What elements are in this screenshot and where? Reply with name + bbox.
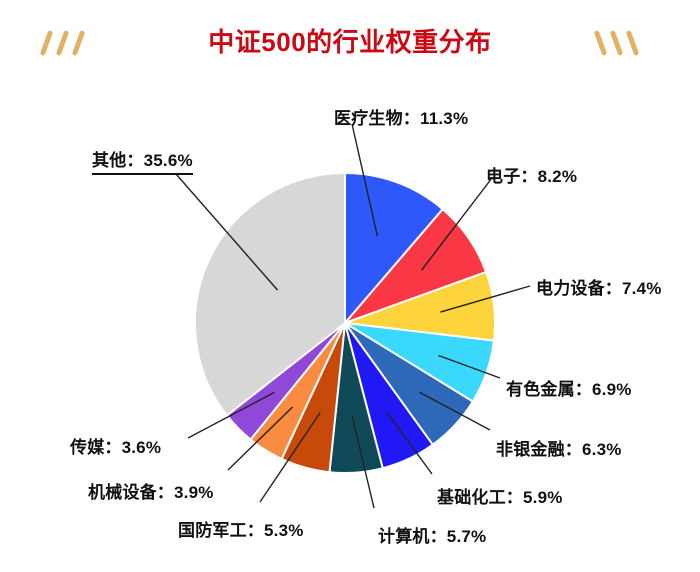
pie-slice-label: 机械设备：3.9% bbox=[88, 478, 214, 503]
pie-slice-label: 计算机：5.7% bbox=[378, 522, 486, 547]
pie-slice-label: 非银金融：6.3% bbox=[496, 435, 622, 460]
pie-chart: 医疗生物：11.3%电子：8.2%电力设备：7.4%有色金属：6.9%非银金融：… bbox=[0, 78, 700, 572]
pie-slice-label: 基础化工：5.9% bbox=[437, 483, 563, 508]
pie-slice-label: 医疗生物：11.3% bbox=[334, 104, 468, 129]
pie-slice-label: 有色金属：6.9% bbox=[506, 375, 632, 400]
pie-slice-label: 电子：8.2% bbox=[486, 162, 577, 187]
pie-slice-group bbox=[195, 173, 495, 473]
pie-slice-label: 国防军工：5.3% bbox=[178, 516, 304, 541]
pie-slice-label: 电力设备：7.4% bbox=[536, 274, 662, 299]
chart-page: 中证500的行业权重分布 医疗生物：11.3%电子：8.2%电力设备：7.4%有… bbox=[0, 0, 700, 572]
title-row: 中证500的行业权重分布 bbox=[0, 22, 700, 68]
pie-slice-label: 其他：35.6% bbox=[92, 146, 193, 175]
pie-slice-label: 传媒：3.6% bbox=[70, 433, 161, 458]
slash-decoration-right-icon bbox=[596, 30, 660, 58]
page-title: 中证500的行业权重分布 bbox=[0, 22, 700, 62]
